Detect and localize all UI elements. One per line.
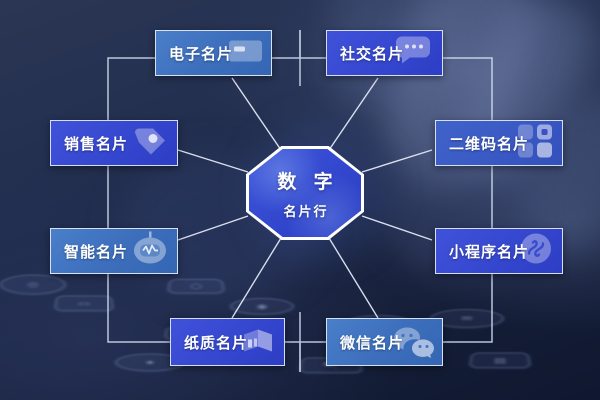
connector-top-join-left — [272, 30, 300, 58]
connector-bottom-join-left — [285, 342, 300, 372]
node-smart-card[interactable]: 智能名片 — [50, 228, 178, 274]
node-label: 小程序名片 — [449, 241, 529, 262]
robot-head-icon — [127, 229, 173, 274]
spoke-to-social — [329, 78, 378, 150]
spoke-to-sales — [178, 150, 248, 172]
node-qrcode-card[interactable]: 二维码名片 — [435, 120, 563, 166]
node-sales-card[interactable]: 销售名片 — [50, 120, 178, 166]
node-social-card[interactable]: 社交名片 — [326, 30, 443, 76]
node-label: 二维码名片 — [449, 133, 529, 154]
hub-text: 数 字 名片行 — [246, 146, 364, 240]
node-label: 电子名片 — [169, 43, 233, 64]
node-electronic-card[interactable]: 电子名片 — [155, 30, 272, 76]
node-label: 纸质名片 — [184, 332, 248, 353]
spoke-to-qrcode — [362, 150, 432, 172]
node-miniprogram-card[interactable]: 小程序名片 — [435, 228, 563, 274]
node-label: 微信名片 — [340, 332, 404, 353]
node-wechat-card[interactable]: 微信名片 — [326, 318, 443, 366]
node-label: 社交名片 — [340, 43, 404, 64]
spoke-to-wechat — [329, 238, 378, 318]
node-label: 销售名片 — [64, 133, 128, 154]
node-label: 智能名片 — [64, 241, 128, 262]
diagram-canvas: ▭ ◎ ⬡ ▶ 🔍 ✉ ◫ ★ ▤ ◉ — [0, 0, 600, 400]
hub-title-line2: 名片行 — [281, 201, 328, 220]
spoke-to-miniprogram — [362, 216, 432, 240]
hub-title-line1: 数 字 — [271, 167, 338, 194]
center-hub[interactable]: 数 字 名片行 — [246, 146, 364, 240]
spoke-to-smart — [178, 216, 248, 240]
spoke-to-paper — [232, 238, 281, 318]
node-paper-card[interactable]: 纸质名片 — [170, 318, 285, 366]
spoke-to-electronic — [232, 78, 281, 150]
price-tag-icon — [127, 122, 173, 165]
